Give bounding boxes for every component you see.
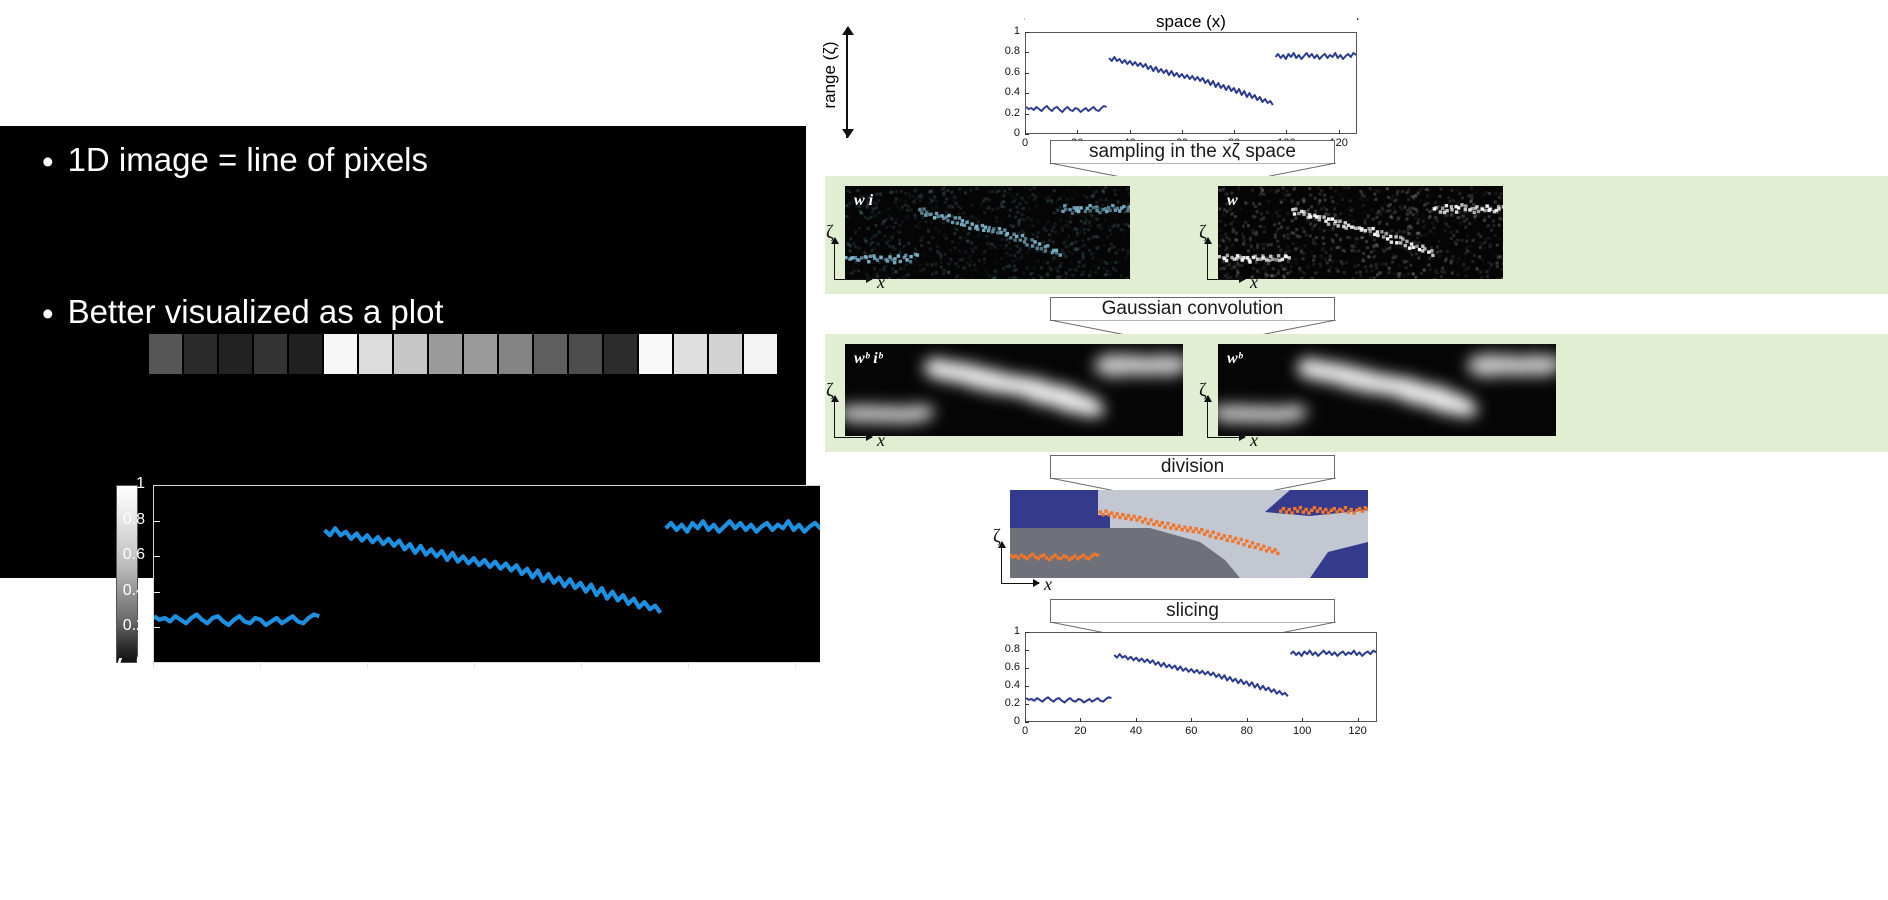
noise-sample bbox=[953, 199, 956, 202]
noise-sample bbox=[1117, 261, 1120, 264]
noise-sample bbox=[1485, 238, 1488, 241]
noise-sample bbox=[927, 227, 930, 230]
noise-sample bbox=[1469, 245, 1472, 248]
noise-sample bbox=[1104, 218, 1107, 221]
noise-sample bbox=[910, 233, 913, 236]
noise-sample bbox=[1319, 265, 1322, 268]
noise-sample bbox=[1043, 260, 1046, 263]
noise-sample bbox=[1339, 266, 1342, 269]
plot-x-tick bbox=[367, 662, 368, 669]
noise-sample bbox=[1058, 233, 1061, 236]
noise-sample bbox=[947, 263, 950, 266]
noise-sample bbox=[1438, 254, 1441, 257]
noise-sample bbox=[1087, 200, 1090, 203]
signal-sample bbox=[1337, 224, 1340, 227]
signal-sample bbox=[1038, 242, 1041, 245]
noise-sample bbox=[1468, 194, 1471, 197]
noise-sample bbox=[1054, 231, 1057, 234]
noise-sample bbox=[1260, 278, 1263, 279]
noise-sample bbox=[1321, 249, 1324, 252]
signal-sample bbox=[1345, 227, 1348, 230]
signal-sample bbox=[1446, 209, 1449, 212]
noise-sample bbox=[1075, 269, 1078, 272]
signal-sample bbox=[886, 260, 889, 263]
noise-sample bbox=[964, 236, 967, 239]
noise-sample bbox=[1498, 217, 1501, 220]
panel-w: w bbox=[1218, 186, 1503, 279]
noise-sample bbox=[1311, 277, 1314, 279]
noise-sample bbox=[867, 227, 870, 230]
noise-sample bbox=[1471, 260, 1474, 263]
noise-sample bbox=[1393, 273, 1396, 276]
noise-sample bbox=[1398, 265, 1401, 268]
noise-sample bbox=[1441, 267, 1444, 270]
noise-sample bbox=[889, 186, 892, 189]
noise-sample bbox=[1260, 212, 1263, 215]
noise-sample bbox=[1391, 261, 1394, 264]
noise-sample bbox=[1046, 273, 1049, 276]
noise-sample bbox=[1091, 236, 1094, 239]
noise-sample bbox=[935, 271, 938, 274]
noise-sample bbox=[1417, 232, 1420, 235]
noise-sample bbox=[1064, 277, 1067, 279]
signal-sample bbox=[1077, 210, 1080, 213]
noise-sample bbox=[1006, 265, 1009, 268]
noise-sample bbox=[1219, 220, 1222, 223]
signal-sample bbox=[1026, 243, 1029, 246]
noise-sample bbox=[1330, 196, 1333, 199]
noise-sample bbox=[887, 208, 890, 211]
slice-sample bbox=[1118, 516, 1121, 519]
line-segment-1 bbox=[154, 614, 319, 625]
signal-sample bbox=[1450, 208, 1453, 211]
noise-sample bbox=[1282, 187, 1285, 190]
signal-sample bbox=[1334, 220, 1337, 223]
noise-sample bbox=[1075, 249, 1078, 252]
noise-sample bbox=[1065, 272, 1068, 275]
signal-sample bbox=[1021, 234, 1024, 237]
signal-sample bbox=[909, 260, 912, 263]
noise-sample bbox=[1370, 251, 1373, 254]
noise-sample bbox=[949, 274, 952, 277]
signal-sample bbox=[1262, 256, 1265, 259]
signal-sample bbox=[1302, 210, 1305, 213]
noise-sample bbox=[919, 270, 922, 273]
noise-sample bbox=[1026, 251, 1029, 254]
noise-sample bbox=[1474, 190, 1477, 193]
noise-sample bbox=[961, 276, 964, 279]
noise-sample bbox=[938, 230, 941, 233]
noise-sample bbox=[1021, 197, 1024, 200]
noise-sample bbox=[1488, 192, 1491, 195]
noise-sample bbox=[969, 260, 972, 263]
noise-sample bbox=[1447, 278, 1450, 279]
noise-sample bbox=[1474, 219, 1477, 222]
noise-sample bbox=[1315, 236, 1318, 239]
noise-sample bbox=[894, 248, 897, 251]
noise-sample bbox=[920, 239, 923, 242]
noise-sample bbox=[955, 227, 958, 230]
noise-sample bbox=[1274, 236, 1277, 239]
noise-sample bbox=[1309, 235, 1312, 238]
noise-sample bbox=[1306, 265, 1309, 268]
noise-sample bbox=[1032, 233, 1035, 236]
noise-sample bbox=[1295, 228, 1298, 231]
noise-sample bbox=[1379, 271, 1382, 274]
noise-sample bbox=[1329, 255, 1332, 258]
noise-sample bbox=[1000, 202, 1003, 205]
noise-sample bbox=[1386, 244, 1389, 247]
noise-sample bbox=[1393, 207, 1396, 210]
signal-sample bbox=[1376, 234, 1379, 237]
bottom-chart-y-tick bbox=[1025, 632, 1029, 633]
noise-sample bbox=[1320, 258, 1323, 261]
noise-sample bbox=[1051, 192, 1054, 195]
signal-sample bbox=[929, 213, 932, 216]
top-chart-y-tick bbox=[1025, 134, 1029, 135]
signal-sample bbox=[924, 214, 927, 217]
noise-sample bbox=[1372, 245, 1375, 248]
noise-sample bbox=[1472, 203, 1475, 206]
noise-sample bbox=[1290, 265, 1293, 268]
noise-sample bbox=[1092, 194, 1095, 197]
top-chart-x-tick bbox=[1339, 130, 1340, 134]
noise-sample bbox=[1313, 224, 1316, 227]
noise-sample bbox=[1324, 258, 1327, 261]
noise-sample bbox=[1115, 252, 1118, 255]
noise-sample bbox=[1095, 271, 1098, 274]
noise-sample bbox=[1106, 270, 1109, 273]
noise-sample bbox=[1358, 249, 1361, 252]
noise-sample bbox=[1331, 239, 1334, 242]
step-box-division: division bbox=[1050, 455, 1335, 479]
noise-sample bbox=[1267, 244, 1270, 247]
signal-sample bbox=[1107, 206, 1110, 209]
noise-sample bbox=[999, 244, 1002, 247]
noise-sample bbox=[1048, 239, 1051, 242]
signal-sample bbox=[876, 258, 879, 261]
slice-sample bbox=[1237, 541, 1240, 544]
panel-wbib: wᵇ iᵇ bbox=[845, 344, 1183, 436]
noise-sample bbox=[850, 204, 853, 207]
noise-sample bbox=[951, 196, 954, 199]
noise-sample bbox=[1294, 247, 1297, 250]
pipeline-diagram: space (x) range (ζ) 10.80.60.40.20 02040… bbox=[820, 0, 1888, 900]
signal-sample bbox=[951, 221, 954, 224]
noise-sample bbox=[1373, 193, 1376, 196]
noise-sample bbox=[900, 248, 903, 251]
noise-sample bbox=[1301, 277, 1304, 279]
noise-sample bbox=[1110, 233, 1113, 236]
noise-sample bbox=[1016, 193, 1019, 196]
noise-sample bbox=[1471, 194, 1474, 197]
signal-sample bbox=[1055, 249, 1058, 252]
noise-sample bbox=[1433, 226, 1436, 229]
noise-sample bbox=[1016, 211, 1019, 214]
noise-sample bbox=[1422, 220, 1425, 223]
noise-sample bbox=[1417, 218, 1420, 221]
noise-sample bbox=[1360, 239, 1363, 242]
noise-sample bbox=[1221, 212, 1224, 215]
noise-sample bbox=[1113, 265, 1116, 268]
slice-sample bbox=[1121, 513, 1124, 516]
line-segment-1 bbox=[1026, 697, 1111, 702]
noise-sample bbox=[1359, 198, 1362, 201]
noise-sample bbox=[1386, 223, 1389, 226]
noise-sample bbox=[1452, 199, 1455, 202]
noise-sample bbox=[972, 250, 975, 253]
slice-sample bbox=[1282, 507, 1285, 510]
noise-sample bbox=[861, 212, 864, 215]
noise-sample bbox=[1428, 210, 1431, 213]
noise-sample bbox=[846, 204, 849, 207]
noise-sample bbox=[983, 261, 986, 264]
panel-wi-axes-icon bbox=[834, 238, 872, 280]
noise-sample bbox=[1286, 190, 1289, 193]
signal-sample bbox=[916, 253, 919, 256]
signal-sample bbox=[1364, 229, 1367, 232]
noise-sample bbox=[1492, 220, 1495, 223]
noise-sample bbox=[1240, 208, 1243, 211]
range-axis-label-wrap: range (ζ) bbox=[820, 35, 840, 131]
noise-sample bbox=[898, 242, 901, 245]
noise-sample bbox=[963, 230, 966, 233]
noise-sample bbox=[940, 261, 943, 264]
signal-sample bbox=[1475, 205, 1478, 208]
noise-sample bbox=[879, 224, 882, 227]
noise-sample bbox=[1080, 260, 1083, 263]
signal-sample bbox=[958, 216, 961, 219]
noise-sample bbox=[940, 257, 943, 260]
noise-sample bbox=[945, 211, 948, 214]
noise-sample bbox=[1065, 224, 1068, 227]
signal-sample bbox=[1315, 215, 1318, 218]
noise-sample bbox=[1278, 222, 1281, 225]
noise-sample bbox=[1095, 218, 1098, 221]
noise-sample bbox=[1414, 217, 1417, 220]
noise-sample bbox=[927, 241, 930, 244]
signal-sample bbox=[946, 219, 949, 222]
noise-sample bbox=[1009, 254, 1012, 257]
slice-sample bbox=[1045, 556, 1048, 559]
noise-sample bbox=[1465, 247, 1468, 250]
noise-sample bbox=[907, 273, 910, 276]
noise-sample bbox=[1457, 216, 1460, 219]
noise-sample bbox=[1452, 255, 1455, 258]
noise-sample bbox=[1416, 222, 1419, 225]
noise-sample bbox=[1089, 271, 1092, 274]
signal-sample bbox=[1031, 244, 1034, 247]
noise-sample bbox=[1224, 224, 1227, 227]
signal-sample bbox=[1108, 209, 1111, 212]
noise-sample bbox=[976, 270, 979, 273]
noise-sample bbox=[934, 264, 937, 267]
noise-sample bbox=[1262, 247, 1265, 250]
noise-sample bbox=[958, 259, 961, 262]
noise-sample bbox=[1222, 188, 1225, 191]
noise-sample bbox=[1343, 271, 1346, 274]
noise-sample bbox=[854, 231, 857, 234]
noise-sample bbox=[1080, 214, 1083, 217]
noise-sample bbox=[1019, 189, 1022, 192]
noise-sample bbox=[1081, 265, 1084, 268]
noise-sample bbox=[1069, 260, 1072, 263]
noise-sample bbox=[1220, 234, 1223, 237]
noise-sample bbox=[1414, 208, 1417, 211]
noise-sample bbox=[1327, 213, 1330, 216]
top-chart-x-tick bbox=[1286, 130, 1287, 134]
noise-sample bbox=[1354, 250, 1357, 253]
slice-sample bbox=[1194, 527, 1197, 530]
noise-sample bbox=[1071, 189, 1074, 192]
signal-sample bbox=[1450, 205, 1453, 208]
noise-sample bbox=[1365, 268, 1368, 271]
noise-sample bbox=[895, 190, 898, 193]
noise-sample bbox=[1488, 261, 1491, 264]
noise-sample bbox=[1322, 242, 1325, 245]
bottom-chart-y-tick-label: 0.8 bbox=[994, 643, 1020, 655]
noise-sample bbox=[1033, 198, 1036, 201]
signal-sample bbox=[1284, 255, 1287, 258]
noise-sample bbox=[1115, 269, 1118, 272]
panel-wb-blur bbox=[1218, 344, 1556, 436]
noise-sample bbox=[1333, 207, 1336, 210]
bottom-chart-y-tick-label: 0.6 bbox=[994, 661, 1020, 673]
noise-sample bbox=[1465, 240, 1468, 243]
noise-sample bbox=[1047, 233, 1050, 236]
noise-sample bbox=[1287, 233, 1290, 236]
noise-sample bbox=[1043, 227, 1046, 230]
noise-sample bbox=[1430, 246, 1433, 249]
noise-sample bbox=[993, 186, 996, 189]
noise-sample bbox=[1264, 269, 1267, 272]
signal-sample bbox=[1394, 235, 1397, 238]
noise-sample bbox=[1285, 194, 1288, 197]
noise-sample bbox=[1368, 255, 1371, 258]
signal-sample bbox=[1095, 205, 1098, 208]
bullet-item-2: •Better visualized as a plot bbox=[42, 293, 444, 333]
noise-sample bbox=[1123, 240, 1126, 243]
noise-sample bbox=[1037, 274, 1040, 277]
signal-sample bbox=[1024, 237, 1027, 240]
noise-sample bbox=[867, 217, 870, 220]
signal-sample bbox=[963, 224, 966, 227]
noise-sample bbox=[1302, 197, 1305, 200]
noise-sample bbox=[926, 263, 929, 266]
slice-sample bbox=[1324, 508, 1327, 511]
noise-sample bbox=[1438, 240, 1441, 243]
noise-sample bbox=[1027, 196, 1030, 199]
noise-sample bbox=[1473, 216, 1476, 219]
noise-sample bbox=[1310, 194, 1313, 197]
noise-sample bbox=[1028, 277, 1031, 279]
noise-sample bbox=[1490, 229, 1493, 232]
noise-sample bbox=[1314, 210, 1317, 213]
noise-sample bbox=[914, 197, 917, 200]
noise-sample bbox=[953, 232, 956, 235]
noise-sample bbox=[1284, 267, 1287, 270]
noise-sample bbox=[1301, 252, 1304, 255]
noise-sample bbox=[1007, 210, 1010, 213]
division-region-blue-top bbox=[1010, 490, 1110, 530]
noise-sample bbox=[986, 242, 989, 245]
signal-sample bbox=[1089, 209, 1092, 212]
noise-sample bbox=[1478, 241, 1481, 244]
signal-sample bbox=[1271, 258, 1274, 261]
noise-sample bbox=[1122, 244, 1125, 247]
noise-sample bbox=[1444, 229, 1447, 232]
noise-sample bbox=[1362, 252, 1365, 255]
noise-sample bbox=[1023, 208, 1026, 211]
noise-sample bbox=[914, 212, 917, 215]
range-axis-down-arrow-icon bbox=[842, 129, 854, 138]
noise-sample bbox=[1102, 189, 1105, 192]
noise-sample bbox=[901, 220, 904, 223]
noise-sample bbox=[848, 209, 851, 212]
noise-sample bbox=[1067, 235, 1070, 238]
noise-sample bbox=[1123, 273, 1126, 276]
noise-sample bbox=[1389, 203, 1392, 206]
signal-sample bbox=[1439, 210, 1442, 213]
noise-sample bbox=[1113, 223, 1116, 226]
noise-sample bbox=[906, 209, 909, 212]
noise-sample bbox=[1020, 206, 1023, 209]
noise-sample bbox=[1301, 248, 1304, 251]
signal-sample bbox=[1423, 247, 1426, 250]
noise-sample bbox=[1410, 253, 1413, 256]
noise-sample bbox=[978, 259, 981, 262]
signal-sample bbox=[1485, 204, 1488, 207]
noise-sample bbox=[1076, 234, 1079, 237]
noise-sample bbox=[883, 235, 886, 238]
noise-sample bbox=[1291, 219, 1294, 222]
noise-sample bbox=[1027, 200, 1030, 203]
noise-sample bbox=[1439, 188, 1442, 191]
slide-canvas: •1D image = line of pixels •Better visua… bbox=[0, 126, 806, 578]
slice-sample bbox=[1116, 512, 1119, 515]
signal-sample bbox=[1006, 232, 1009, 235]
noise-sample bbox=[938, 210, 941, 213]
noise-sample bbox=[1318, 199, 1321, 202]
noise-sample bbox=[1373, 238, 1376, 241]
signal-sample bbox=[1401, 237, 1404, 240]
slice-sample bbox=[1319, 507, 1322, 510]
signal-sample bbox=[1084, 210, 1087, 213]
noise-sample bbox=[1218, 216, 1221, 219]
panel-wbib-zeta-label: ζ bbox=[826, 380, 834, 402]
signal-sample bbox=[1347, 224, 1350, 227]
noise-sample bbox=[1453, 240, 1456, 243]
noise-sample bbox=[1350, 209, 1353, 212]
noise-sample bbox=[1235, 232, 1238, 235]
noise-sample bbox=[1246, 253, 1249, 256]
noise-sample bbox=[1047, 196, 1050, 199]
plot-x-tick-label: 120 bbox=[775, 669, 815, 687]
noise-sample bbox=[1120, 228, 1123, 231]
noise-sample bbox=[1411, 195, 1414, 198]
noise-sample bbox=[1105, 273, 1108, 276]
noise-sample bbox=[1080, 220, 1083, 223]
noise-sample bbox=[1080, 230, 1083, 233]
noise-sample bbox=[1232, 230, 1235, 233]
noise-sample bbox=[1023, 218, 1026, 221]
noise-sample bbox=[1372, 218, 1375, 221]
noise-sample bbox=[1296, 273, 1299, 276]
noise-sample bbox=[1106, 236, 1109, 239]
noise-sample bbox=[903, 245, 906, 248]
noise-sample bbox=[1068, 226, 1071, 229]
slice-sample bbox=[1361, 510, 1364, 513]
